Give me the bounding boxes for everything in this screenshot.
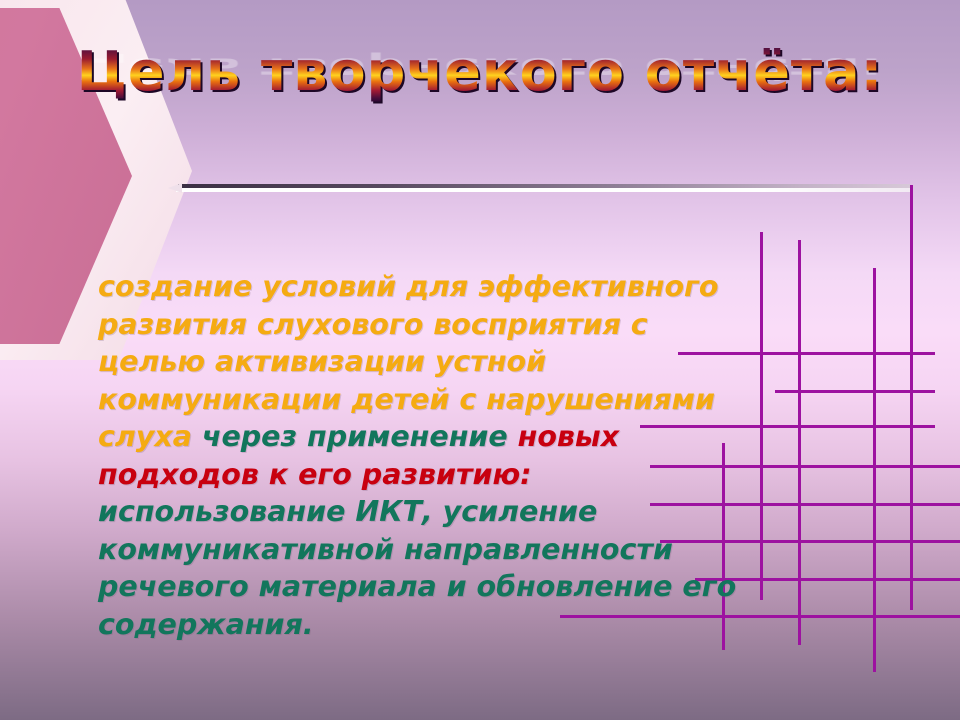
horizontal-divider-highlight [176,188,910,192]
slide-body-text: создание условий для эффективного развит… [98,268,758,643]
body-segment-green-2: использование ИКТ, усиление коммуникатив… [98,495,736,641]
grid-vertical-line-1 [760,232,763,600]
grid-vertical-line-3 [873,268,876,672]
grid-horizontal-line-1 [775,390,935,393]
title-block: Цель творчекого отчёта: Цель творчекого … [0,40,960,130]
body-segment-green-1: через применение [202,420,518,453]
grid-vertical-line-4 [910,185,913,610]
slide-canvas: Цель творчекого отчёта: Цель творчекого … [0,0,960,720]
page-title: Цель творчекого отчёта: [0,40,960,103]
grid-vertical-line-2 [798,240,801,645]
